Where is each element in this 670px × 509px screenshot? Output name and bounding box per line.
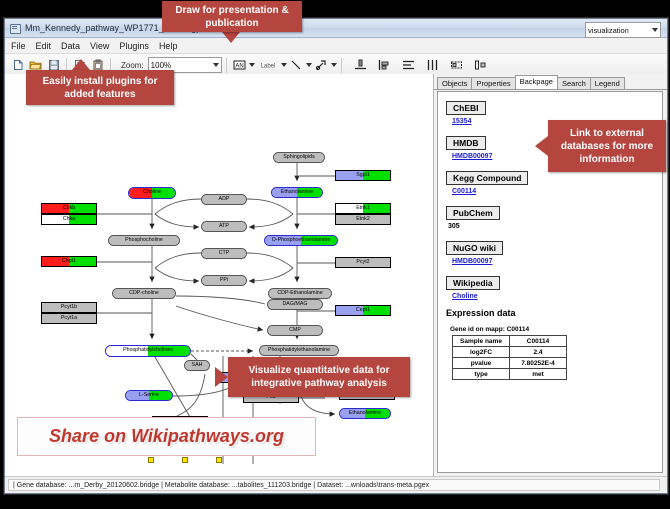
db-header-wikipedia: Wikipedia	[446, 276, 500, 290]
choline-top[interactable]: Choline	[128, 187, 176, 199]
chevron-down-icon[interactable]	[306, 63, 312, 67]
line-tool-group[interactable]	[288, 57, 312, 74]
zoom-label: Zoom:	[121, 61, 144, 70]
db-header-pubchem: PubChem	[446, 206, 500, 220]
phosphatidylcholines[interactable]: Phosphatidylcholines	[105, 345, 191, 357]
expression-key: type	[453, 369, 510, 380]
annotation-plugins: Easily install plugins for added feature…	[26, 70, 174, 105]
ppi-node-label: PPi	[220, 278, 228, 283]
tab-properties[interactable]: Properties	[471, 77, 515, 89]
cmp-node[interactable]: CMP	[267, 325, 323, 336]
l-serine-left-label: L-Serine	[139, 393, 159, 398]
chkb-gene[interactable]: Chkb	[41, 203, 97, 214]
expression-value: 7.80252E-4	[510, 358, 567, 369]
side-panel-tabs: ObjectsPropertiesBackpageSearchLegend	[434, 74, 667, 90]
menu-help[interactable]: Help	[159, 41, 184, 51]
etnk1-gene[interactable]: Etnk1	[335, 203, 391, 214]
expression-value: met	[510, 369, 567, 380]
datanode-tool-group[interactable]: AN	[231, 57, 255, 74]
toolbar-separator	[226, 58, 227, 73]
gene-id-line: Gene id on mapp: C00114	[450, 326, 662, 333]
atp-node-label: ATP	[219, 224, 229, 229]
dag-mag-node-label: DAG/MAG	[282, 302, 307, 307]
interaction-tool-group[interactable]	[313, 57, 337, 74]
tab-search[interactable]: Search	[557, 77, 591, 89]
l-serine-left[interactable]: L-Serine	[125, 390, 173, 401]
sphingolipids-label: Sphingolipids	[283, 155, 315, 160]
expression-key: pvalue	[453, 358, 510, 369]
cdp-choline-label: CDP-choline	[129, 291, 159, 296]
annotation-share: Share on Wikipathways.org	[17, 417, 316, 456]
pcyt1b-gene[interactable]: Pcyt1b	[41, 302, 97, 313]
chevron-down-icon[interactable]	[249, 63, 255, 67]
pcyt1b-gene-label: Pcyt1b	[61, 305, 77, 310]
annotation-links-arrow	[535, 136, 548, 156]
menu-data[interactable]: Data	[61, 41, 86, 51]
new-file-icon[interactable]	[9, 57, 26, 74]
line-tool-icon[interactable]	[288, 57, 305, 74]
db-header-chebi: ChEBI	[446, 101, 486, 115]
label-tool-icon[interactable]: Label	[256, 57, 280, 74]
chevron-down-icon	[652, 28, 658, 32]
align-bottom-icon[interactable]	[352, 57, 369, 74]
expression-data-title: Expression data	[446, 308, 662, 318]
phosphatidylethanolamine[interactable]: Phosphatidylethanolamine	[259, 345, 339, 356]
ppi-node[interactable]: PPi	[201, 275, 247, 286]
menu-bar: File Edit Data View Plugins Help	[5, 38, 667, 54]
title-bar: Mm_Kennedy_pathway_WP1771_45176.gpml	[5, 19, 667, 38]
ethanolamine-top[interactable]: Ethanolamine	[271, 187, 323, 198]
adp-node-label: ADP	[219, 197, 230, 202]
db-value-nugo-wiki[interactable]: HMDB00097	[452, 258, 662, 265]
visualization-combo[interactable]: visualization	[585, 22, 661, 38]
table-row: log2FC2.4	[453, 347, 567, 358]
cept1-gene-label: Cept1	[356, 308, 370, 313]
ethanolamine-bottom[interactable]: Ethanolamine	[339, 408, 391, 419]
db-value-wikipedia[interactable]: Choline	[452, 293, 662, 300]
ctp-node[interactable]: CTP	[201, 248, 247, 259]
atp-node[interactable]: ATP	[201, 221, 247, 232]
o-phosphoethanolamine[interactable]: O-Phosphoethanolamine	[264, 235, 338, 246]
chka-gene-label: Chka	[63, 217, 75, 222]
pcyt2-gene-label: Pcyt2	[356, 260, 369, 265]
sah-node-label: SAH	[192, 363, 203, 368]
table-row: Sample nameC00114	[453, 336, 567, 347]
chpt1-gene[interactable]: Chpt1	[41, 256, 97, 267]
app-icon	[9, 22, 21, 34]
chka-gene[interactable]: Chka	[41, 214, 97, 225]
cmp-node-label: CMP	[289, 328, 301, 333]
pcyt1a-gene-label: Pcyt1a	[61, 316, 77, 321]
sgpl1-gene[interactable]: Sgpl1	[335, 170, 391, 181]
label-tool-group[interactable]: Label	[256, 57, 287, 74]
phosphatidylcholines-label: Phosphatidylcholines	[123, 348, 173, 353]
table-row: typemet	[453, 369, 567, 380]
group-icon[interactable]	[448, 57, 465, 74]
pcyt2-gene[interactable]: Pcyt2	[335, 257, 391, 268]
table-row: pvalue7.80252E-4	[453, 358, 567, 369]
expression-key: Sample name	[453, 336, 510, 347]
db-value-kegg-compound[interactable]: C00114	[452, 188, 662, 195]
phosphocholine[interactable]: Phosphocholine	[108, 235, 180, 246]
distribute-horizontal-icon[interactable]	[424, 57, 441, 74]
pcyt1a-gene[interactable]: Pcyt1a	[41, 313, 97, 324]
choline-top-label: Choline	[143, 190, 161, 195]
cdp-choline[interactable]: CDP-choline	[112, 288, 176, 299]
db-value-pubchem: 305	[448, 223, 662, 230]
tab-objects[interactable]: Objects	[437, 77, 472, 89]
screenshot-root: Mm_Kennedy_pathway_WP1771_45176.gpml Fil…	[0, 0, 670, 509]
db-header-kegg-compound: Kegg Compound	[446, 171, 528, 185]
chevron-down-icon	[213, 63, 219, 67]
ethanolamine-top-label: Ethanolamine	[281, 190, 313, 195]
annotation-plugins-arrow	[72, 59, 90, 70]
expression-value: C00114	[510, 336, 567, 347]
annotation-draw-arrow	[222, 32, 240, 43]
etnk1-gene-label: Etnk1	[356, 206, 370, 211]
chkb-gene-label: Chkb	[63, 206, 75, 211]
toolbar-separator	[341, 58, 342, 73]
expression-value: 2.4	[510, 347, 567, 358]
status-bar: | Gene database: ...m_Derby_20120602.bri…	[5, 476, 667, 493]
phosphocholine-label: Phosphocholine	[125, 238, 163, 243]
db-header-hmdb: HMDB	[446, 136, 486, 150]
cept1-gene[interactable]: Cept1	[335, 305, 391, 316]
annotation-visualize: Visualize quantitative data for integrat…	[228, 357, 410, 397]
db-header-nugo-wiki: NuGO wiki	[446, 241, 503, 255]
chpt1-gene-label: Chpt1	[62, 259, 76, 264]
cdp-ethanolamine[interactable]: CDP-Ethanolamine	[268, 288, 332, 299]
menu-edit[interactable]: Edit	[36, 41, 58, 51]
sah-node[interactable]: SAH	[184, 360, 210, 371]
tab-backpage[interactable]: Backpage	[515, 75, 558, 89]
chevron-down-icon[interactable]	[281, 63, 287, 67]
sphingolipids[interactable]: Sphingolipids	[273, 152, 325, 163]
etnk2-gene[interactable]: Etnk2	[335, 214, 391, 225]
resize-handle[interactable]	[216, 457, 222, 463]
align-left-icon[interactable]	[376, 57, 393, 74]
distribute-vertical-icon[interactable]	[400, 57, 417, 74]
cdp-ethanolamine-label: CDP-Ethanolamine	[277, 291, 322, 296]
visualization-value: visualization	[588, 26, 629, 35]
etnk2-gene-label: Etnk2	[356, 217, 370, 222]
annotation-draw: Draw for presentation & publication	[162, 1, 302, 32]
adp-node[interactable]: ADP	[201, 194, 247, 205]
annotation-visualize-arrow	[215, 367, 228, 387]
svg-text:AN: AN	[235, 63, 243, 69]
tab-legend[interactable]: Legend	[590, 77, 625, 89]
expression-table: Sample nameC00114log2FC2.4pvalue7.80252E…	[452, 335, 567, 380]
ungroup-icon[interactable]	[472, 57, 489, 74]
o-phosphoethanolamine-label: O-Phosphoethanolamine	[272, 238, 331, 243]
datanode-tool-icon[interactable]: AN	[231, 57, 248, 74]
annotation-share-text: Share on Wikipathways.org	[49, 426, 284, 447]
menu-plugins[interactable]: Plugins	[119, 41, 155, 51]
dag-mag-node[interactable]: DAG/MAG	[267, 299, 323, 310]
status-text: | Gene database: ...m_Derby_20120602.bri…	[8, 479, 660, 491]
resize-handle[interactable]	[148, 457, 154, 463]
annotation-links: Link to external databases for more info…	[548, 120, 666, 172]
ethanolamine-bottom-label: Ethanolamine	[349, 411, 381, 416]
svg-text:Label: Label	[260, 64, 275, 70]
menu-view[interactable]: View	[90, 41, 115, 51]
zoom-value: 100%	[151, 61, 171, 70]
chevron-down-icon[interactable]	[331, 63, 337, 67]
phosphatidylethanolamine-label: Phosphatidylethanolamine	[268, 348, 330, 353]
menu-file[interactable]: File	[11, 41, 32, 51]
expression-key: log2FC	[453, 347, 510, 358]
resize-handle[interactable]	[182, 457, 188, 463]
ctp-node-label: CTP	[219, 251, 230, 256]
receptor-tool-icon[interactable]	[313, 57, 330, 74]
sgpl1-gene-label: Sgpl1	[356, 173, 370, 178]
